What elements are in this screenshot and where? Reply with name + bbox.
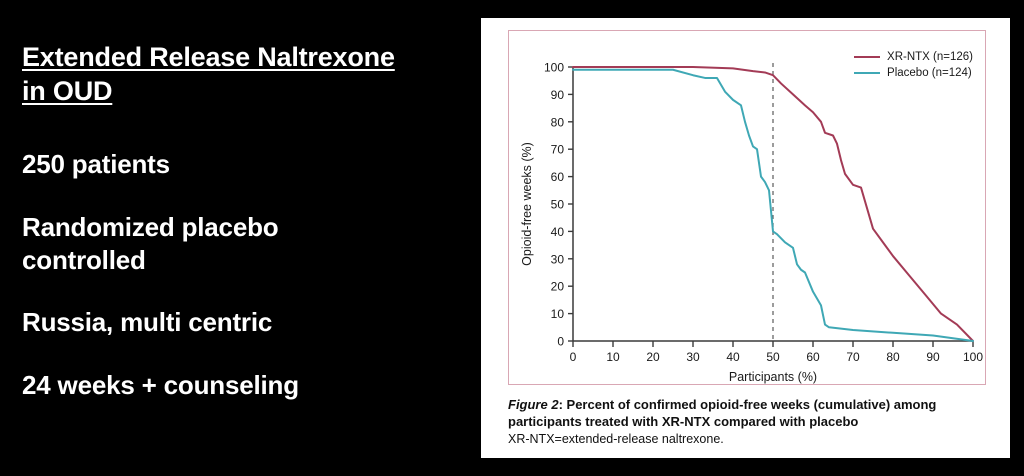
bullet-randomized-line-2: controlled bbox=[22, 244, 462, 277]
svg-text:0: 0 bbox=[557, 335, 564, 349]
page-title-line-2: in OUD bbox=[22, 76, 112, 106]
svg-text:30: 30 bbox=[686, 350, 700, 364]
bullet-patients: 250 patients bbox=[22, 148, 462, 181]
svg-text:30: 30 bbox=[551, 252, 565, 266]
page-title-line-1: Extended Release Naltrexone bbox=[22, 42, 395, 72]
svg-text:40: 40 bbox=[551, 225, 565, 239]
y-axis-label: Opioid-free weeks (%) bbox=[520, 142, 534, 266]
caption-line-2: participants treated with XR-NTX compare… bbox=[508, 413, 988, 430]
x-axis-label: Participants (%) bbox=[729, 370, 817, 384]
series-line-xrntx bbox=[573, 67, 973, 341]
caption-line-1: Figure 2: Percent of confirmed opioid-fr… bbox=[508, 396, 988, 413]
left-text-column: Extended Release Naltrexone in OUD 250 p… bbox=[22, 40, 462, 402]
caption-footnote: XR-NTX=extended-release naltrexone. bbox=[508, 431, 988, 448]
svg-text:10: 10 bbox=[551, 307, 565, 321]
figure-panel: 0102030405060708090100010203040506070809… bbox=[481, 18, 1010, 458]
caption-text-part-1: : Percent of confirmed opioid-free weeks… bbox=[559, 397, 937, 412]
figure-caption: Figure 2: Percent of confirmed opioid-fr… bbox=[508, 396, 988, 447]
spacer bbox=[22, 339, 462, 369]
svg-text:70: 70 bbox=[846, 350, 860, 364]
svg-text:20: 20 bbox=[646, 350, 660, 364]
bullet-location: Russia, multi centric bbox=[22, 306, 462, 339]
svg-text:60: 60 bbox=[806, 350, 820, 364]
spacer bbox=[22, 276, 462, 306]
line-chart: 0102030405060708090100010203040506070809… bbox=[509, 31, 987, 384]
svg-text:90: 90 bbox=[926, 350, 940, 364]
svg-text:60: 60 bbox=[551, 170, 565, 184]
series-line-placebo bbox=[573, 70, 973, 341]
chart-frame: 0102030405060708090100010203040506070809… bbox=[508, 30, 986, 385]
svg-text:40: 40 bbox=[726, 350, 740, 364]
spacer bbox=[22, 181, 462, 211]
svg-text:100: 100 bbox=[544, 61, 564, 75]
bullet-duration: 24 weeks + counseling bbox=[22, 369, 462, 402]
svg-text:70: 70 bbox=[551, 143, 565, 157]
svg-text:10: 10 bbox=[606, 350, 620, 364]
svg-text:80: 80 bbox=[886, 350, 900, 364]
chart-legend: XR-NTX (n=126) Placebo (n=124) bbox=[854, 49, 973, 82]
legend-item-placebo: Placebo (n=124) bbox=[854, 65, 973, 81]
caption-figure-number: Figure 2 bbox=[508, 397, 559, 412]
svg-text:20: 20 bbox=[551, 280, 565, 294]
svg-text:0: 0 bbox=[570, 350, 577, 364]
page-title: Extended Release Naltrexone in OUD bbox=[22, 40, 462, 108]
legend-swatch-placebo bbox=[854, 72, 880, 74]
legend-label-xrntx: XR-NTX (n=126) bbox=[887, 49, 973, 65]
svg-text:80: 80 bbox=[551, 115, 565, 129]
legend-item-xrntx: XR-NTX (n=126) bbox=[854, 49, 973, 65]
bullet-randomized-line-1: Randomized placebo bbox=[22, 211, 462, 244]
slide-canvas: Extended Release Naltrexone in OUD 250 p… bbox=[0, 0, 1024, 476]
svg-text:50: 50 bbox=[766, 350, 780, 364]
svg-text:90: 90 bbox=[551, 88, 565, 102]
spacer bbox=[22, 114, 462, 148]
svg-text:50: 50 bbox=[551, 198, 565, 212]
legend-swatch-xrntx bbox=[854, 56, 880, 58]
legend-label-placebo: Placebo (n=124) bbox=[887, 65, 972, 81]
svg-text:100: 100 bbox=[963, 350, 983, 364]
